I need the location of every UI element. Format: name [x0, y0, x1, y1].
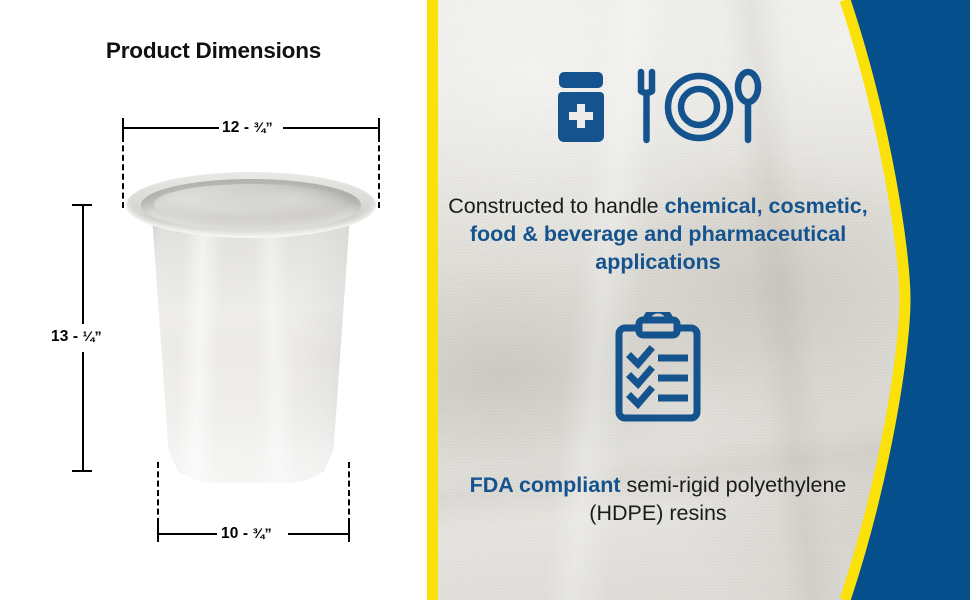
- clipboard-checklist-icon: [610, 312, 706, 429]
- height-dim-fraction: ¼”: [83, 329, 102, 345]
- product-dimensions-panel: Product Dimensions 12 - ¾” 13 - ¼”: [0, 0, 427, 600]
- bottom-dim-line-left: [157, 533, 217, 535]
- pill-bottle-icon: [553, 70, 609, 149]
- product-infographic-banner: Product Dimensions 12 - ¾” 13 - ¼”: [0, 0, 970, 600]
- top-dim-line-left: [122, 127, 219, 129]
- bottom-dim-fraction: ¾”: [253, 526, 272, 542]
- pail-mouth-highlight: [154, 184, 348, 224]
- feature-2-tail: semi-rigid polyethylene (HDPE) resins: [589, 473, 846, 525]
- bottom-dim-leader-right: [348, 462, 350, 524]
- product-image-pail: [126, 172, 376, 492]
- feature-text-fda: FDA compliant semi-rigid polyethylene (H…: [438, 472, 878, 528]
- fork-plate-spoon-icon: [635, 68, 763, 151]
- dimension-label-bottom-diameter: 10 - ¾”: [221, 525, 272, 543]
- bottom-dim-leader-left: [157, 462, 159, 524]
- height-dim-line-lower: [82, 352, 84, 470]
- feature-1-lead: Constructed to handle: [448, 194, 664, 218]
- features-content: Constructed to handle chemical, cosmetic…: [438, 0, 908, 600]
- page-title: Product Dimensions: [0, 38, 427, 64]
- dimension-label-top-diameter: 12 - ¾”: [222, 119, 273, 137]
- icon-row-compliance: [438, 312, 878, 429]
- icon-row-industries: [438, 68, 878, 151]
- height-dim-line-upper: [82, 204, 84, 324]
- yellow-divider-bar: [427, 0, 438, 600]
- height-dim-whole: 13 -: [51, 328, 83, 345]
- bottom-dim-line-right: [288, 533, 348, 535]
- top-dim-leader-right: [378, 136, 380, 208]
- dimension-label-height: 13 - ¼”: [51, 328, 102, 346]
- feature-2-emphasis: FDA compliant: [470, 473, 621, 497]
- top-dim-whole: 12 -: [222, 119, 254, 136]
- pail-sheen: [144, 200, 358, 484]
- bottom-dim-cap-right: [348, 524, 350, 542]
- top-dim-leader-left: [122, 136, 124, 208]
- top-dim-cap-right: [378, 118, 380, 136]
- bottom-dim-whole: 10 -: [221, 525, 253, 542]
- height-dim-cap-bottom: [72, 470, 92, 472]
- feature-text-applications: Constructed to handle chemical, cosmetic…: [438, 193, 878, 277]
- top-dim-fraction: ¾”: [254, 120, 273, 136]
- top-dim-line-right: [283, 127, 378, 129]
